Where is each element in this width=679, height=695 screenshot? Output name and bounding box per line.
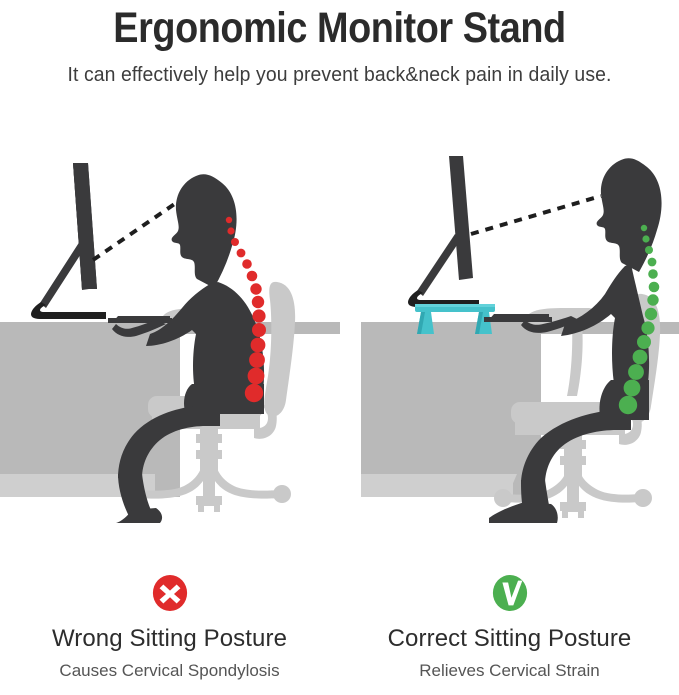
sight-line-right — [471, 196, 601, 234]
correct-posture-scene — [339, 138, 679, 523]
illustration-row — [0, 138, 679, 523]
caption-wrong: Wrong Sitting Posture Causes Cervical Sp… — [0, 566, 339, 682]
product-infographic: Ergonomic Monitor Stand It can effective… — [0, 0, 679, 695]
keyboard-right — [484, 314, 552, 322]
monitor-right — [408, 156, 479, 307]
check-circle-icon — [491, 574, 529, 612]
header: Ergonomic Monitor Stand It can effective… — [0, 0, 679, 88]
cross-circle-icon — [151, 574, 189, 612]
wrong-posture-scene — [0, 138, 340, 523]
caption-row: Wrong Sitting Posture Causes Cervical Sp… — [0, 566, 679, 695]
caption-correct-heading: Correct Sitting Posture — [340, 624, 679, 653]
monitor-left — [31, 163, 106, 319]
page-title: Ergonomic Monitor Stand — [41, 2, 639, 54]
caption-wrong-heading: Wrong Sitting Posture — [0, 624, 339, 653]
caption-correct-subtext: Relieves Cervical Strain — [340, 660, 679, 682]
caption-wrong-subtext: Causes Cervical Spondylosis — [0, 660, 339, 682]
caption-correct: Correct Sitting Posture Relieves Cervica… — [340, 566, 679, 682]
keyboard-left — [108, 316, 172, 323]
page-subtitle: It can effectively help you prevent back… — [10, 62, 669, 88]
sight-line-left — [93, 203, 176, 260]
